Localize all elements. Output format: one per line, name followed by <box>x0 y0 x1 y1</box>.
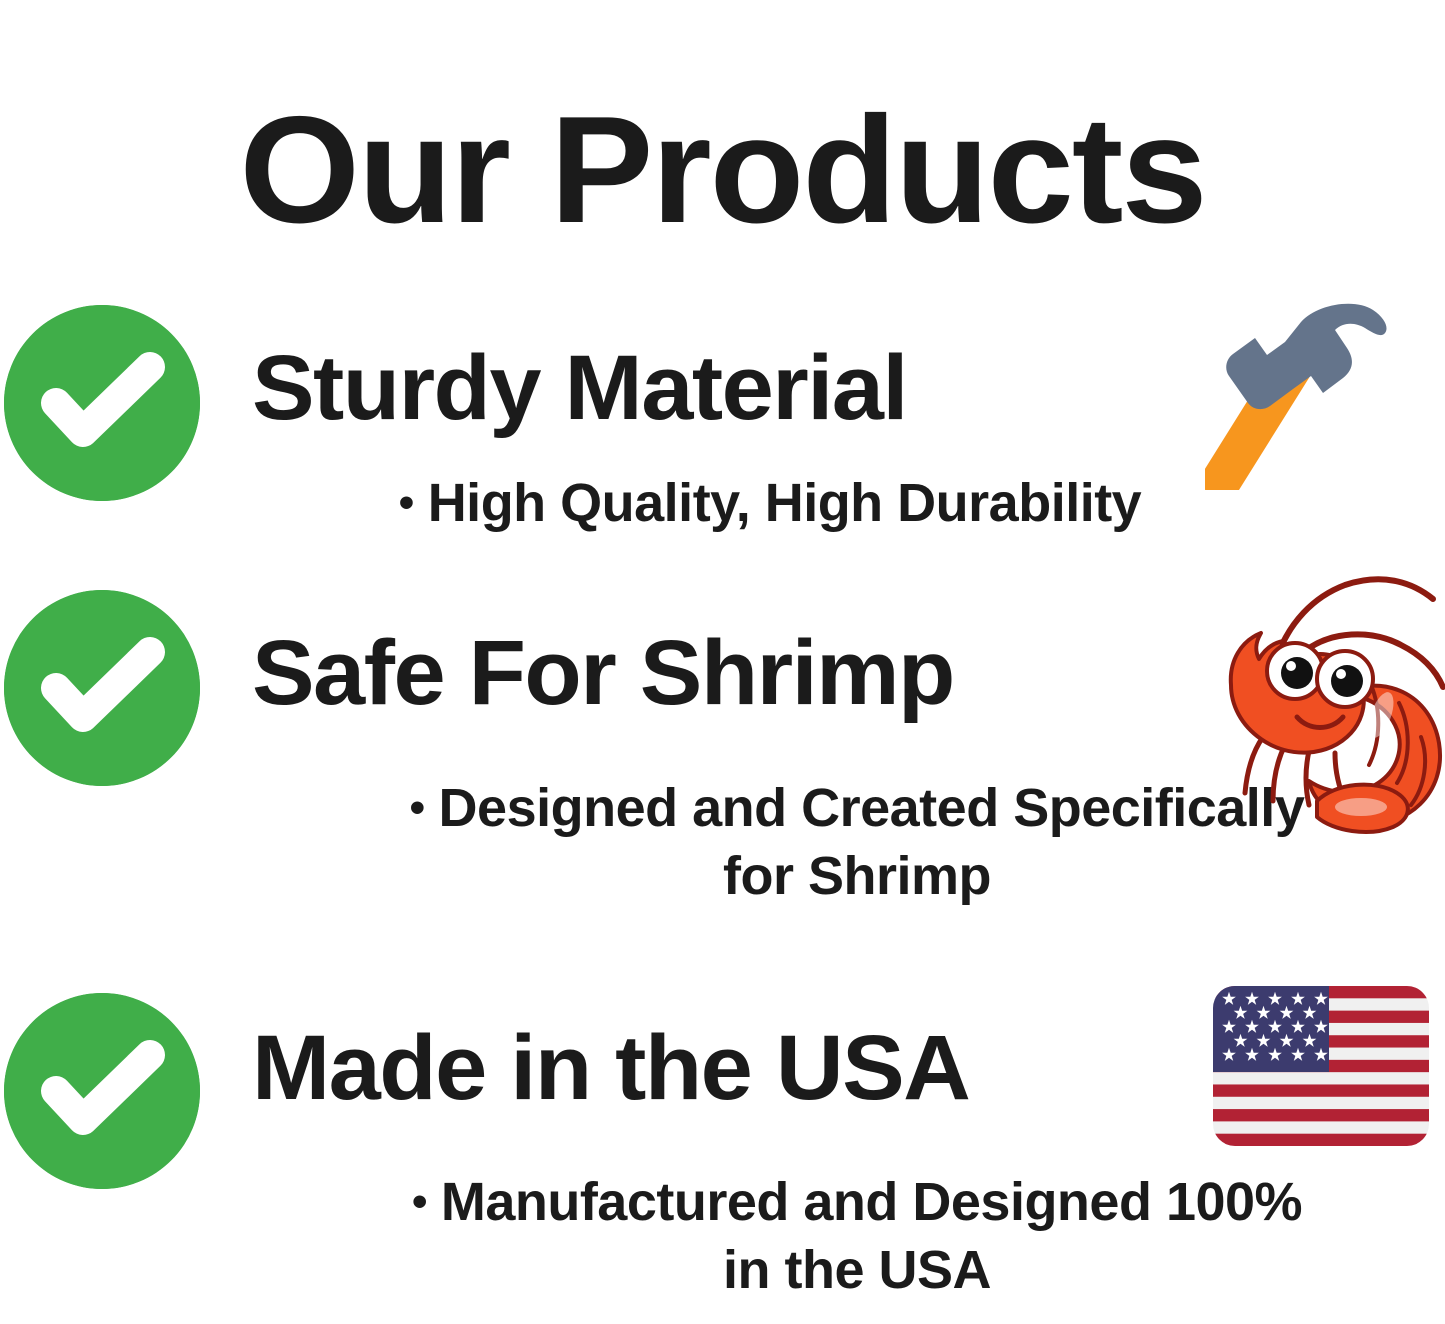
feature-heading-sturdy-material: Sturdy Material <box>252 342 907 434</box>
feature-row-safe-for-shrimp: Safe For Shrimp •Designed and Created Sp… <box>0 585 1445 955</box>
page-title: Our Products <box>0 94 1445 246</box>
us-flag-emoji <box>1213 986 1429 1146</box>
bullet-marker: • <box>410 783 439 832</box>
feature-row-sturdy-material: Sturdy Material •High Quality, High Dura… <box>0 300 1445 560</box>
feature-row-made-in-the-usa: Made in the USA •Manufactured and Design… <box>0 988 1445 1324</box>
check-circle-icon <box>4 305 200 501</box>
feature-bullet-made-in-the-usa: •Manufactured and Designed 100% in the U… <box>272 1171 1442 1302</box>
feature-bullet-line: in the USA <box>272 1239 1442 1303</box>
check-circle-icon <box>4 590 200 786</box>
bullet-marker: • <box>399 478 428 527</box>
feature-bullet-line: Manufactured and Designed 100% <box>441 1172 1302 1232</box>
feature-bullet-line: High Quality, High Durability <box>428 473 1142 533</box>
hammer-emoji <box>1205 300 1445 490</box>
feature-bullet-sturdy-material: •High Quality, High Durability <box>270 472 1270 536</box>
product-features-page: Our Products Sturdy Material •High Quali… <box>0 0 1445 1324</box>
feature-heading-safe-for-shrimp: Safe For Shrimp <box>252 627 954 719</box>
bullet-marker: • <box>412 1177 441 1226</box>
feature-bullet-line: Designed and Created Specifically <box>439 778 1305 838</box>
feature-heading-made-in-the-usa: Made in the USA <box>252 1022 969 1114</box>
check-circle-icon <box>4 993 200 1189</box>
shrimp-emoji <box>1185 545 1445 835</box>
feature-bullet-line: for Shrimp <box>272 845 1442 909</box>
